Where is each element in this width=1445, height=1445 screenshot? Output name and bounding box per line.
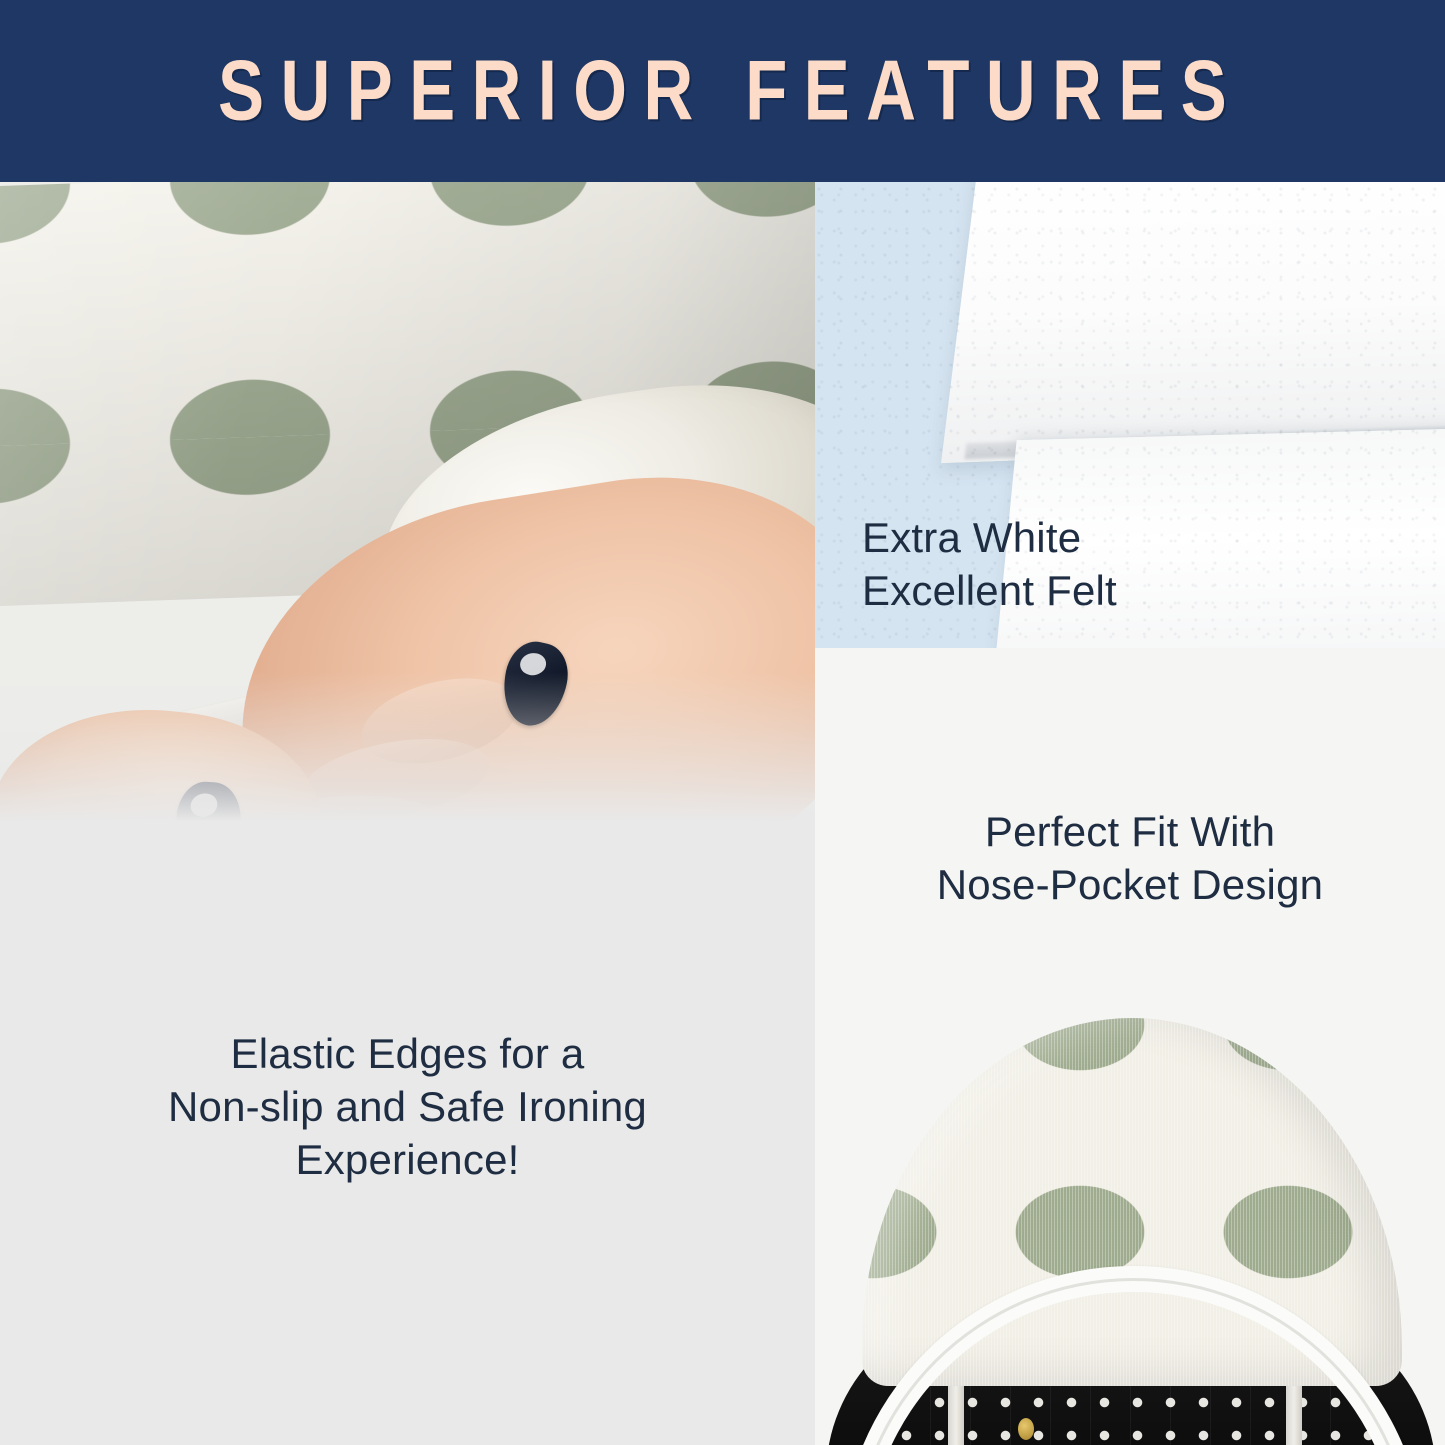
header-band: SUPERIOR FEATURES: [0, 0, 1445, 182]
caption-line: Experience!: [0, 1134, 815, 1187]
caption-line: Excellent Felt: [862, 565, 1117, 618]
infographic-canvas: SUPERIOR FEATURES Extra White Excellent: [0, 0, 1445, 1445]
caption-line: Perfect Fit With: [815, 806, 1445, 859]
caption-line: Non-slip and Safe Ironing: [0, 1081, 815, 1134]
caption-line: Elastic Edges for a: [0, 1028, 815, 1081]
caption-nose-pocket: Perfect Fit With Nose-Pocket Design: [815, 806, 1445, 912]
caption-line: Extra White: [862, 512, 1117, 565]
caption-elastic-edges: Elastic Edges for a Non-slip and Safe Ir…: [0, 1028, 815, 1187]
caption-line: Nose-Pocket Design: [815, 859, 1445, 912]
page-title: SUPERIOR FEATURES: [202, 49, 1243, 134]
caption-felt: Extra White Excellent Felt: [862, 512, 1117, 618]
nose-pocket-photo: [820, 1010, 1445, 1445]
elastic-edge-photo: [0, 182, 815, 842]
photo-fade-overlay: [0, 672, 815, 842]
